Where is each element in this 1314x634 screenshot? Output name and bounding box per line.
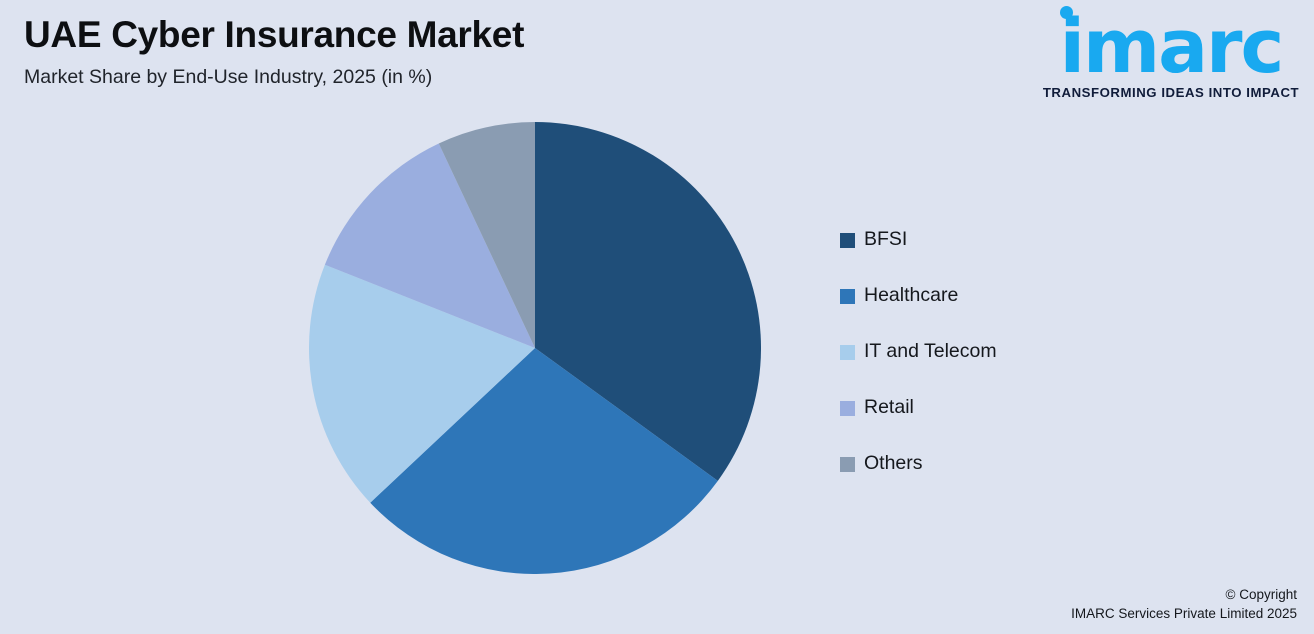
page-title: UAE Cyber Insurance Market	[24, 14, 924, 57]
chart-page: UAE Cyber Insurance Market Market Share …	[0, 0, 1314, 634]
legend-label-it-and-telecom: IT and Telecom	[864, 342, 997, 362]
legend-label-healthcare: Healthcare	[864, 286, 958, 306]
legend-swatch-retail	[840, 401, 855, 416]
imarc-wordmark-icon: imarc	[1036, 10, 1306, 84]
legend-swatch-it-and-telecom	[840, 345, 855, 360]
imarc-logo-dot-icon	[1060, 6, 1073, 19]
chart-subtitle: Market Share by End-Use Industry, 2025 (…	[24, 66, 924, 89]
legend-item-it-and-telecom[interactable]: IT and Telecom	[840, 324, 1140, 380]
copyright-line-1: © Copyright	[1071, 585, 1297, 605]
pie-chart	[309, 122, 761, 574]
legend-item-retail[interactable]: Retail	[840, 380, 1140, 436]
pie-chart-svg	[309, 122, 761, 574]
legend-item-healthcare[interactable]: Healthcare	[840, 268, 1140, 324]
legend-item-bfsi[interactable]: BFSI	[840, 212, 1140, 268]
legend-label-bfsi: BFSI	[864, 230, 907, 250]
legend-label-others: Others	[864, 454, 923, 474]
legend-swatch-others	[840, 457, 855, 472]
chart-header: UAE Cyber Insurance Market Market Share …	[24, 14, 924, 89]
legend-swatch-healthcare	[840, 289, 855, 304]
legend-label-retail: Retail	[864, 398, 914, 418]
imarc-wordmark-text: imarc	[1036, 10, 1306, 84]
legend-swatch-bfsi	[840, 233, 855, 248]
chart-legend: BFSI Healthcare IT and Telecom Retail Ot…	[840, 212, 1140, 492]
copyright-line-2: IMARC Services Private Limited 2025	[1071, 604, 1297, 624]
copyright-footer: © Copyright IMARC Services Private Limit…	[1071, 585, 1297, 624]
imarc-logo: imarc TRANSFORMING IDEAS INTO IMPACT	[1036, 10, 1306, 99]
legend-item-others[interactable]: Others	[840, 436, 1140, 492]
